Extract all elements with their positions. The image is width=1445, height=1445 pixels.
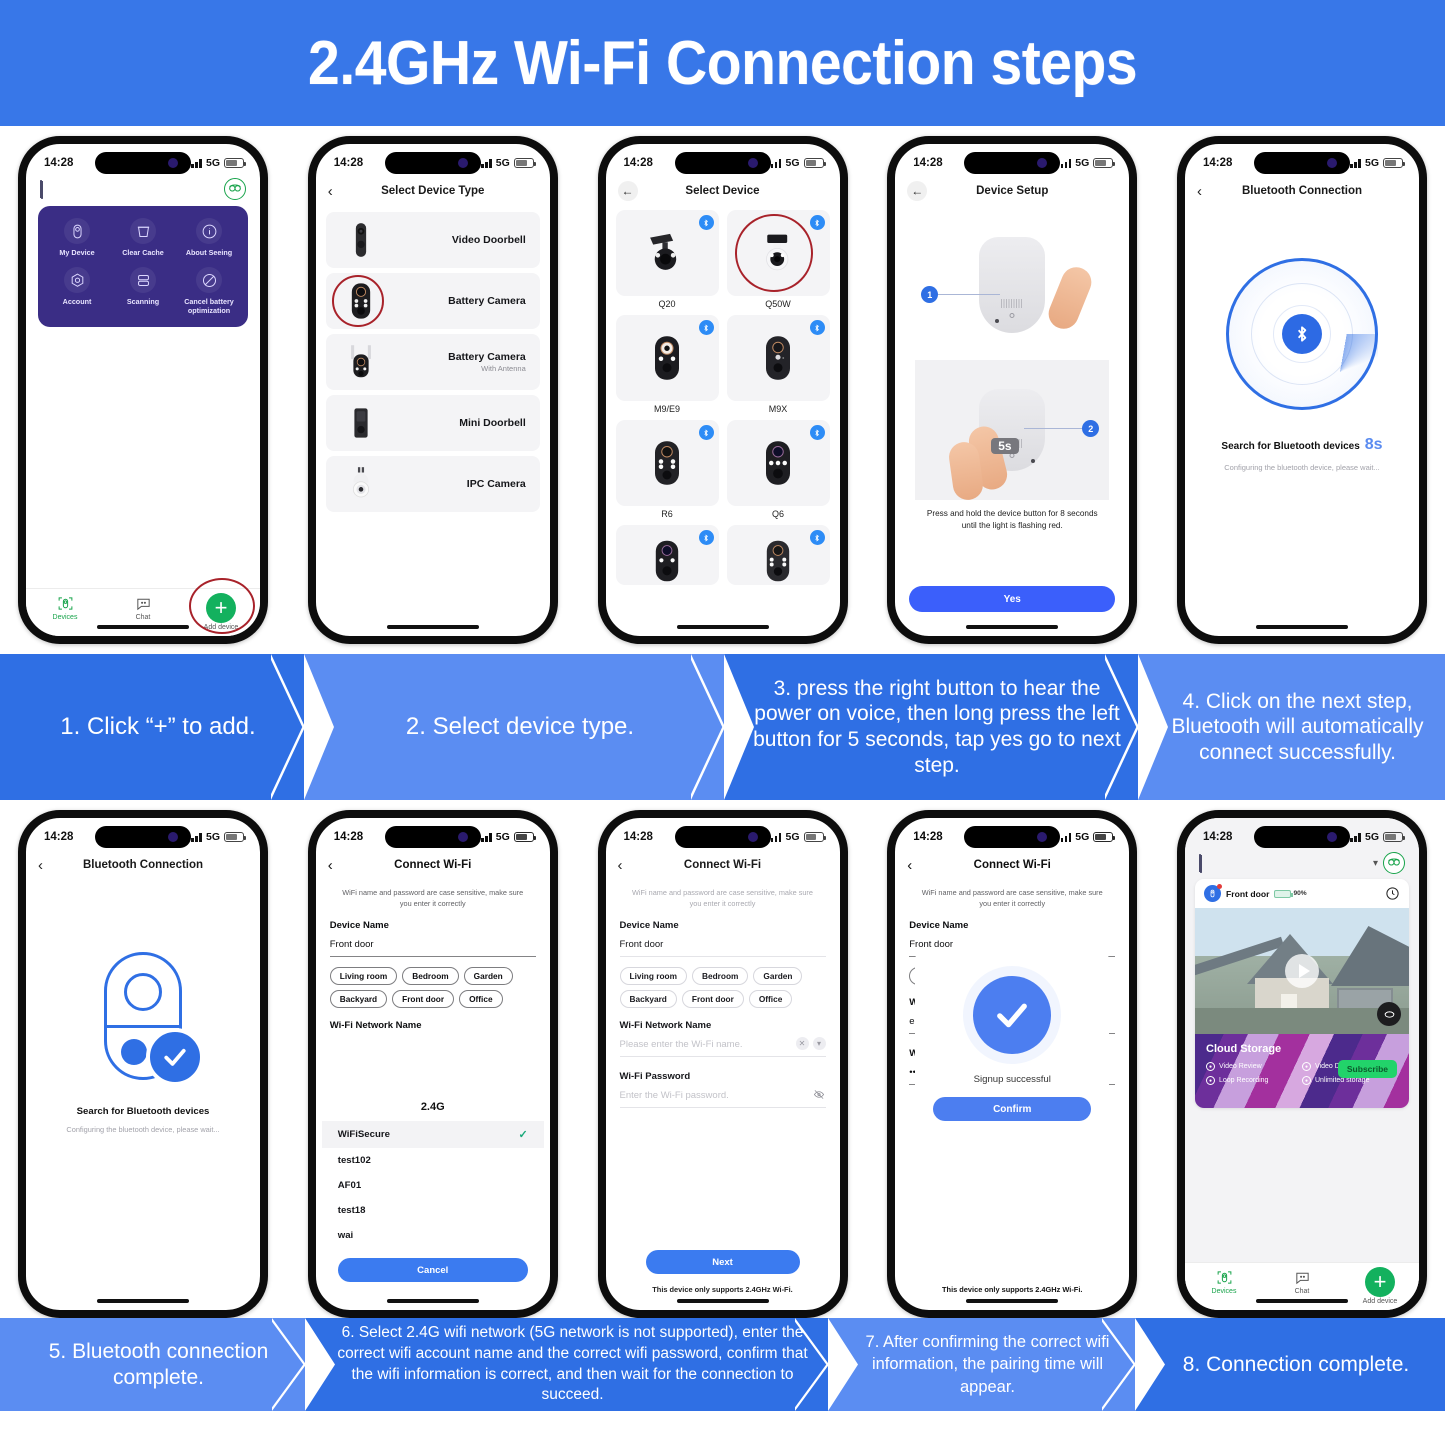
network-label: 5G xyxy=(1075,157,1089,169)
battery-percent: 90% xyxy=(1293,890,1306,897)
camera-device-icon xyxy=(64,218,90,244)
grid-item[interactable]: M9/E9 xyxy=(616,315,719,414)
bluetooth-badge-icon xyxy=(810,215,825,230)
signal-icon xyxy=(771,158,782,168)
screen-title: Bluetooth Connection xyxy=(1215,185,1389,197)
countdown-seconds: 8s xyxy=(1365,436,1383,454)
chevron-down-icon[interactable]: ▾ xyxy=(1373,858,1378,869)
device-name: Q50W xyxy=(727,299,830,309)
menu-item-clear-cache[interactable]: Clear Cache xyxy=(110,218,176,257)
back-button[interactable]: ‹ xyxy=(1197,184,1215,199)
signal-icon xyxy=(1350,832,1361,842)
tab-devices[interactable]: Devices xyxy=(1185,1267,1263,1295)
phone-10-home-connected: 14:28 5G ▾ xyxy=(1177,810,1427,1318)
notification-bell-icon[interactable] xyxy=(1199,855,1215,872)
network-label: 5G xyxy=(496,831,510,843)
home-indicator xyxy=(97,625,189,629)
network-ssid: wai xyxy=(338,1230,353,1241)
chip-living-room[interactable]: Living room xyxy=(330,967,397,985)
chip-bedroom[interactable]: Bedroom xyxy=(402,967,458,985)
screen-title: Connect Wi-Fi xyxy=(346,859,520,871)
phone-4-device-setup: 14:28 5G ← Device Setup xyxy=(887,136,1137,644)
status-time: 14:28 xyxy=(44,831,73,843)
video-review-icon: ● xyxy=(1206,1062,1215,1071)
chat-icon xyxy=(104,593,182,613)
status-time: 14:28 xyxy=(334,157,363,169)
plus-icon[interactable]: + xyxy=(1365,1267,1395,1297)
unlimited-storage-icon: ● xyxy=(1302,1076,1311,1085)
device-name-input[interactable]: Front door xyxy=(316,931,550,956)
network-label: 5G xyxy=(1365,157,1379,169)
wifi-password-label: Wi-Fi Password xyxy=(606,1057,840,1082)
front-camera-icon xyxy=(748,158,758,168)
page-title: 2.4GHz Wi-Fi Connection steps xyxy=(308,28,1137,99)
form-note: WiFi name and password are case sensitiv… xyxy=(606,880,840,920)
status-time: 14:28 xyxy=(44,157,73,169)
form-note: WiFi name and password are case sensitiv… xyxy=(316,880,550,920)
step-arrow-8: 8. Connection complete. xyxy=(1135,1318,1445,1411)
ptz-control-icon[interactable] xyxy=(1377,1002,1401,1026)
wifi-network-sheet: 2.4G WiFiSecure ✓ test102 AF01 test18 wa… xyxy=(322,1091,544,1292)
list-item[interactable]: Battery Camera With Antenna xyxy=(326,334,540,390)
notch xyxy=(1254,826,1350,848)
bluetooth-radar: Search for Bluetooth devices 8s Configur… xyxy=(1185,206,1419,472)
chip-backyard[interactable]: Backyard xyxy=(620,990,677,1008)
menu-item-cancel-battery-optimization[interactable]: Cancel battery optimization xyxy=(176,267,242,315)
steps-band-bottom: 5. Bluetooth connection complete. 6. Sel… xyxy=(0,1318,1445,1411)
room-chips: Living room Bedroom Garden Backyard Fron… xyxy=(606,957,840,1020)
bluetooth-success: Search for Bluetooth devices Configuring… xyxy=(26,880,260,1134)
wifi-name-label: Wi-Fi Network Name xyxy=(606,1020,840,1031)
list-item[interactable]: Battery Camera xyxy=(326,273,540,329)
status-time: 14:28 xyxy=(334,831,363,843)
nav-bar: ‹ Connect Wi-Fi xyxy=(606,850,840,880)
front-camera-icon xyxy=(1327,832,1337,842)
tab-add-device[interactable]: + Add device xyxy=(1341,1267,1419,1305)
success-check-icon xyxy=(146,1028,204,1086)
notification-bell-icon[interactable] xyxy=(40,181,56,198)
step-arrow-2: 2. Select device type. xyxy=(304,654,724,800)
notch xyxy=(675,152,771,174)
status-time: 14:28 xyxy=(913,157,942,169)
back-button[interactable]: ← xyxy=(907,181,927,201)
battery-icon xyxy=(224,832,244,842)
back-button[interactable]: ← xyxy=(618,181,638,201)
status-time: 14:28 xyxy=(1203,831,1232,843)
device-name: M9X xyxy=(727,404,830,414)
battery-camera-antenna-image xyxy=(334,342,388,382)
back-button[interactable]: ‹ xyxy=(328,858,346,873)
quick-menu-panel: My Device Clear Cache About Seeing Accou… xyxy=(38,206,248,327)
device-name: M9/E9 xyxy=(616,404,719,414)
device-type-name: IPC Camera xyxy=(388,478,526,490)
bluetooth-badge-icon xyxy=(699,530,714,545)
app-logo-avatar[interactable] xyxy=(1383,852,1405,874)
battery-icon xyxy=(1093,832,1113,842)
network-label: 5G xyxy=(785,831,799,843)
battery-icon xyxy=(1093,158,1113,168)
sheet-title: 2.4G xyxy=(322,1101,544,1121)
signal-icon xyxy=(1061,832,1072,842)
notch xyxy=(1254,152,1350,174)
signal-icon xyxy=(771,832,782,842)
signal-icon xyxy=(481,158,492,168)
menu-item-scanning[interactable]: Scanning xyxy=(110,267,176,315)
back-button[interactable]: ‹ xyxy=(618,858,636,873)
nav-bar: ← Device Setup xyxy=(895,176,1129,206)
list-item[interactable]: IPC Camera xyxy=(326,456,540,512)
step-badge-1: 1 xyxy=(921,286,938,303)
phone-3-select-device: 14:28 5G ← Select Device xyxy=(598,136,848,644)
app-logo-avatar[interactable] xyxy=(224,178,246,200)
search-status: Search for Bluetooth devices 8s xyxy=(1221,436,1382,454)
menu-label: About Seeing xyxy=(176,248,242,257)
camera-preview[interactable] xyxy=(1195,908,1409,1034)
grid-item[interactable] xyxy=(727,525,830,585)
notch xyxy=(95,826,191,848)
device-name-label: Device Name xyxy=(895,920,1129,931)
device-type-name: Battery Camera xyxy=(388,295,526,307)
network-label: 5G xyxy=(1075,831,1089,843)
cloud-feature: ●Loop Recording xyxy=(1206,1076,1302,1085)
back-button[interactable]: ‹ xyxy=(328,184,346,199)
phone-6-bluetooth-complete: 14:28 5G ‹ Bluetooth Connection xyxy=(18,810,268,1318)
signal-icon xyxy=(191,158,202,168)
phone-7-wifi-picker: 14:28 5G ‹ Connect Wi-Fi WiFi name and p… xyxy=(308,810,558,1318)
network-ssid: test102 xyxy=(338,1155,371,1166)
step-arrow-3: 3. press the right button to hear the po… xyxy=(724,654,1138,800)
chip-front-door[interactable]: Front door xyxy=(682,990,744,1008)
network-ssid: test18 xyxy=(338,1205,366,1216)
status-time: 14:28 xyxy=(1203,157,1232,169)
home-indicator xyxy=(677,625,769,629)
back-button[interactable]: ‹ xyxy=(38,858,56,873)
nav-bar: ‹ Connect Wi-Fi xyxy=(895,850,1129,880)
chevron-down-icon[interactable]: ▾ xyxy=(813,1037,826,1050)
chip-bedroom[interactable]: Bedroom xyxy=(692,967,748,985)
screen-title: Device Setup xyxy=(927,185,1097,197)
confirm-button[interactable]: Confirm xyxy=(933,1097,1091,1121)
status-time: 14:28 xyxy=(624,831,653,843)
screen-title: Connect Wi-Fi xyxy=(925,859,1099,871)
wifi-password-input[interactable]: Enter the Wi-Fi password. xyxy=(606,1082,812,1107)
devices-icon xyxy=(26,593,104,613)
step-arrow-7: 7. After confirming the correct wifi inf… xyxy=(828,1318,1135,1411)
home-indicator xyxy=(966,625,1058,629)
video-doorbell-image xyxy=(334,220,388,260)
device-name-label: Device Name xyxy=(606,920,840,931)
device-type-name: Mini Doorbell xyxy=(388,417,526,429)
list-item[interactable]: Mini Doorbell xyxy=(326,395,540,451)
bluetooth-badge-icon xyxy=(699,320,714,335)
battery-icon xyxy=(1383,158,1403,168)
scan-list-icon xyxy=(130,267,156,293)
play-button[interactable] xyxy=(1285,954,1319,988)
device-type-name: Video Doorbell xyxy=(388,234,526,246)
nav-bar: ‹ Select Device Type xyxy=(316,176,550,206)
bluetooth-icon xyxy=(1282,314,1322,354)
device-name: Q6 xyxy=(727,509,830,519)
signal-icon xyxy=(1061,158,1072,168)
wifi-support-footer: This device only supports 2.4GHz Wi-Fi. xyxy=(895,1285,1129,1294)
network-option[interactable]: test102 xyxy=(322,1148,544,1173)
signal-icon xyxy=(1350,158,1361,168)
subscribe-button[interactable]: Subscribe xyxy=(1338,1060,1397,1078)
menu-item-account[interactable]: Account xyxy=(44,267,110,315)
notch xyxy=(385,826,481,848)
front-camera-icon xyxy=(458,832,468,842)
bluetooth-badge-icon xyxy=(699,425,714,440)
menu-label: Scanning xyxy=(110,297,176,306)
menu-label: Account xyxy=(44,297,110,306)
network-label: 5G xyxy=(206,831,220,843)
tab-label: Devices xyxy=(26,614,104,621)
block-icon xyxy=(196,267,222,293)
device-card-header: Front door 90% xyxy=(1195,879,1409,908)
battery-icon xyxy=(804,158,824,168)
finger-illustration xyxy=(1044,263,1096,334)
tab-add-device[interactable]: + Add device xyxy=(182,593,260,631)
battery-icon xyxy=(1274,890,1291,898)
phone-row-top: 14:28 5G xyxy=(0,126,1445,644)
devices-icon xyxy=(1185,1267,1263,1287)
menu-label: Cancel battery optimization xyxy=(176,297,242,315)
screen-title: Select Device xyxy=(638,185,808,197)
tab-devices[interactable]: Devices xyxy=(26,593,104,621)
info-icon xyxy=(196,218,222,244)
radar-circles xyxy=(1226,258,1378,410)
network-label: 5G xyxy=(206,157,220,169)
device-grid: Q20 Q50W xyxy=(606,206,840,589)
battery-status: 90% xyxy=(1274,890,1306,898)
cloud-storage-banner: Cloud Storage ●Video Review ●Video Downl… xyxy=(1195,1034,1409,1108)
bluetooth-badge-icon xyxy=(810,530,825,545)
device-type-name: Battery Camera xyxy=(388,351,526,363)
trash-icon xyxy=(130,218,156,244)
notch xyxy=(385,152,481,174)
battery-icon xyxy=(514,832,534,842)
video-download-icon: ● xyxy=(1302,1062,1311,1071)
menu-label: Clear Cache xyxy=(110,248,176,257)
step-badge-2: 2 xyxy=(1082,420,1099,437)
front-camera-icon xyxy=(1037,158,1047,168)
grid-item[interactable]: Q6 xyxy=(727,420,830,519)
home-indicator xyxy=(1256,1299,1348,1303)
mini-doorbell-image xyxy=(334,403,388,443)
camera-icon xyxy=(1204,885,1221,902)
battery-icon xyxy=(514,158,534,168)
eye-off-icon[interactable] xyxy=(812,1089,826,1100)
chip-backyard[interactable]: Backyard xyxy=(330,990,387,1008)
search-subtext: Configuring the bluetooth device, please… xyxy=(66,1125,219,1134)
network-option[interactable]: WiFiSecure ✓ xyxy=(322,1121,544,1148)
cloud-title: Cloud Storage xyxy=(1206,1043,1281,1055)
bluetooth-badge-icon xyxy=(699,215,714,230)
step-arrow-1: 1. Click “+” to add. xyxy=(0,654,304,800)
phone-1-devices-home: 14:28 5G xyxy=(18,136,268,644)
menu-item-my-device[interactable]: My Device xyxy=(44,218,110,257)
notch xyxy=(964,826,1060,848)
screen-title: Connect Wi-Fi xyxy=(636,859,810,871)
grid-item[interactable]: M9X xyxy=(727,315,830,414)
account-hex-icon xyxy=(64,267,90,293)
hold-duration-tag: 5s xyxy=(991,438,1018,454)
home-indicator xyxy=(1256,625,1348,629)
nav-bar: ← Select Device xyxy=(606,176,840,206)
search-subtext: Configuring the bluetooth device, please… xyxy=(1224,463,1380,472)
grid-item[interactable] xyxy=(616,525,719,585)
phone-5-bluetooth-searching: 14:28 5G ‹ Bluetooth Connection xyxy=(1177,136,1427,644)
step-arrow-4: 4. Click on the next step, Bluetooth wil… xyxy=(1138,654,1445,800)
phone-row-bottom: 14:28 5G ‹ Bluetooth Connection xyxy=(0,800,1445,1318)
front-camera-icon xyxy=(458,158,468,168)
list-item[interactable]: Video Doorbell xyxy=(326,212,540,268)
step-arrow-5: 5. Bluetooth connection complete. xyxy=(0,1318,305,1411)
front-camera-icon xyxy=(168,832,178,842)
front-camera-icon xyxy=(1327,158,1337,168)
device-illustration xyxy=(979,237,1045,333)
front-camera-icon xyxy=(748,832,758,842)
home-indicator xyxy=(387,625,479,629)
screen-title: Select Device Type xyxy=(346,185,520,197)
phone-9-signup-success: 14:28 5G ‹ Connect Wi-Fi WiFi name and p… xyxy=(887,810,1137,1318)
device-name-input[interactable]: Front door xyxy=(606,931,840,956)
menu-item-about-seeing[interactable]: About Seeing xyxy=(176,218,242,257)
success-check-icon xyxy=(973,976,1051,1054)
status-time: 14:28 xyxy=(913,831,942,843)
nav-bar: ‹ Connect Wi-Fi xyxy=(316,850,550,880)
phone-8-connect-wifi-form: 14:28 5G ‹ Connect Wi-Fi WiFi name and p… xyxy=(598,810,848,1318)
cloud-feature: ●Video Review xyxy=(1206,1062,1302,1071)
chip-office[interactable]: Office xyxy=(749,990,793,1008)
battery-icon xyxy=(224,158,244,168)
network-label: 5G xyxy=(1365,831,1379,843)
step-arrow-6: 6. Select 2.4G wifi network (5G network … xyxy=(305,1318,828,1411)
network-option[interactable]: AF01 xyxy=(322,1173,544,1198)
battery-camera-image xyxy=(334,281,388,321)
search-label: Search for Bluetooth devices xyxy=(77,1106,210,1117)
room-chips: Living room Bedroom Garden Backyard Fron… xyxy=(316,957,550,1020)
grid-item[interactable]: Q50W xyxy=(727,210,830,309)
history-icon[interactable] xyxy=(1385,886,1400,901)
setup-illustrations: 1 2 5s Press and hold the d xyxy=(895,206,1129,533)
grid-item[interactable]: R6 xyxy=(616,420,719,519)
device-name: Front door xyxy=(1226,889,1269,899)
notch xyxy=(95,152,191,174)
device-name: R6 xyxy=(616,509,719,519)
wifi-support-footer: This device only supports 2.4GHz Wi-Fi. xyxy=(606,1285,840,1294)
device-name: Q20 xyxy=(616,299,719,309)
front-camera-icon xyxy=(168,158,178,168)
poster-header: 2.4GHz Wi-Fi Connection steps xyxy=(0,0,1445,126)
chip-office[interactable]: Office xyxy=(459,990,503,1008)
network-label: 5G xyxy=(496,157,510,169)
network-option[interactable]: test18 xyxy=(322,1198,544,1223)
front-camera-icon xyxy=(1037,832,1047,842)
bluetooth-badge-icon xyxy=(810,320,825,335)
network-label: 5G xyxy=(785,157,799,169)
tab-chat[interactable]: Chat xyxy=(1263,1267,1341,1295)
battery-icon xyxy=(804,832,824,842)
home-indicator xyxy=(97,1299,189,1303)
bluetooth-badge-icon xyxy=(810,425,825,440)
tab-label: Chat xyxy=(1263,1288,1341,1295)
chip-living-room[interactable]: Living room xyxy=(620,967,687,985)
steps-band-top: 1. Click “+” to add. 2. Select device ty… xyxy=(0,654,1445,800)
tab-label: Add device xyxy=(1341,1298,1419,1305)
device-type-list: Video Doorbell Battery Camera xyxy=(316,206,550,518)
tab-label: Add device xyxy=(182,624,260,631)
notch xyxy=(675,826,771,848)
status-time: 14:28 xyxy=(624,157,653,169)
cancel-button[interactable]: Cancel xyxy=(338,1258,528,1282)
signal-icon xyxy=(191,832,202,842)
battery-icon xyxy=(1383,832,1403,842)
loop-recording-icon: ● xyxy=(1206,1076,1215,1085)
setup-figure-1: 1 xyxy=(909,210,1115,360)
notch xyxy=(964,152,1060,174)
device-card: Front door 90% xyxy=(1195,879,1409,1108)
device-type-sub: With Antenna xyxy=(388,364,526,373)
setup-instruction: Press and hold the device button for 8 s… xyxy=(909,500,1115,533)
wifi-name-input[interactable]: Please enter the Wi-Fi name. xyxy=(606,1031,792,1056)
home-indicator xyxy=(387,1299,479,1303)
ipc-camera-image xyxy=(334,464,388,504)
grid-item[interactable]: Q20 xyxy=(616,210,719,309)
chip-garden[interactable]: Garden xyxy=(753,967,802,985)
chat-icon xyxy=(1263,1267,1341,1287)
network-option[interactable]: wai xyxy=(322,1223,544,1248)
poster-root: 2.4GHz Wi-Fi Connection steps 14:28 5G xyxy=(0,0,1445,1445)
chip-front-door[interactable]: Front door xyxy=(392,990,454,1008)
signup-success-modal: Signup successful Confirm xyxy=(915,950,1109,1143)
home-indicator xyxy=(677,1299,769,1303)
back-button[interactable]: ‹ xyxy=(907,858,925,873)
yes-button[interactable]: Yes xyxy=(909,586,1115,612)
form-note: WiFi name and password are case sensitiv… xyxy=(895,880,1129,920)
next-button[interactable]: Next xyxy=(646,1250,800,1274)
plus-icon[interactable]: + xyxy=(206,593,236,623)
clear-icon[interactable]: ✕ xyxy=(796,1037,809,1050)
check-icon: ✓ xyxy=(519,1128,528,1141)
screen-title: Bluetooth Connection xyxy=(56,859,230,871)
network-ssid: WiFiSecure xyxy=(338,1129,390,1140)
chip-garden[interactable]: Garden xyxy=(464,967,513,985)
network-ssid: AF01 xyxy=(338,1180,361,1191)
wifi-name-label: Wi-Fi Network Name xyxy=(316,1020,550,1031)
modal-message: Signup successful xyxy=(974,1074,1051,1085)
tab-label: Chat xyxy=(104,614,182,621)
search-label: Search for Bluetooth devices xyxy=(1221,441,1359,452)
nav-bar: ‹ Bluetooth Connection xyxy=(1185,176,1419,206)
tab-chat[interactable]: Chat xyxy=(104,593,182,621)
setup-figure-2: 2 5s xyxy=(915,360,1109,500)
home-indicator xyxy=(966,1299,1058,1303)
device-name-label: Device Name xyxy=(316,920,550,931)
menu-label: My Device xyxy=(44,248,110,257)
signal-icon xyxy=(481,832,492,842)
nav-bar: ‹ Bluetooth Connection xyxy=(26,850,260,880)
tab-label: Devices xyxy=(1185,1288,1263,1295)
phone-2-select-device-type: 14:28 5G ‹ Select Device Type xyxy=(308,136,558,644)
